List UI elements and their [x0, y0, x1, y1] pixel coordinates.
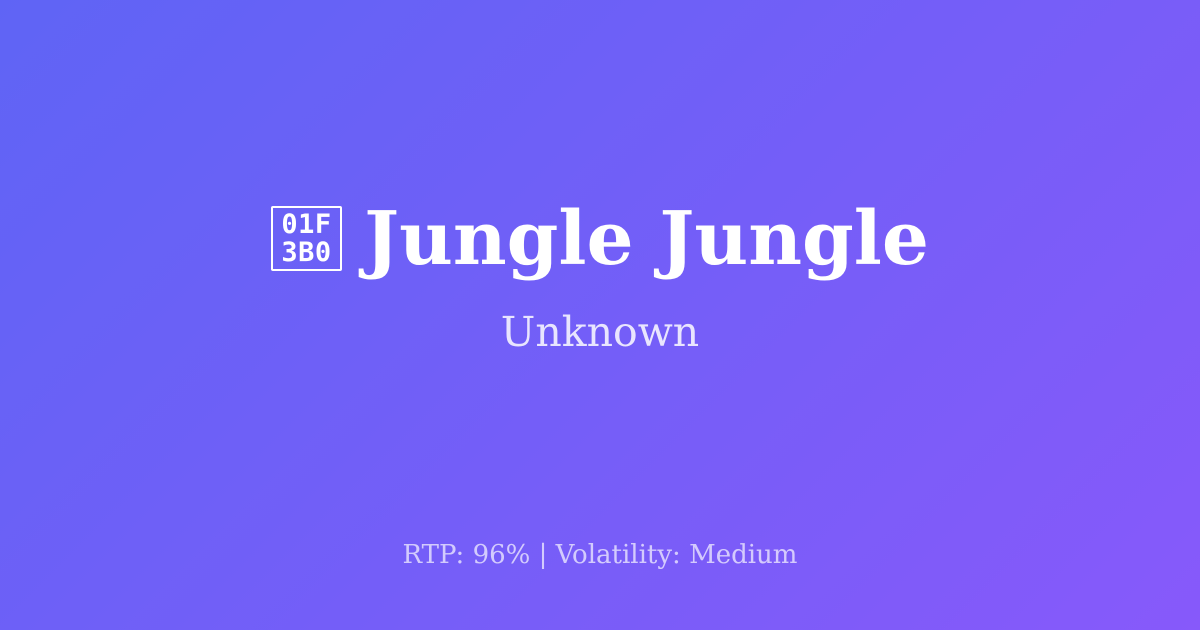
- hero-block: 01F 3B0 Jungle Jungle Unknown: [0, 0, 1200, 592]
- page-title: Jungle Jungle: [364, 202, 929, 276]
- provider-subtitle: Unknown: [501, 312, 699, 353]
- title-row: 01F 3B0 Jungle Jungle: [271, 202, 929, 276]
- slot-machine-icon-codepoint-bottom: 3B0: [281, 239, 331, 267]
- slot-machine-icon: 01F 3B0: [271, 206, 342, 271]
- game-info-card: 01F 3B0 Jungle Jungle Unknown RTP: 96% |…: [0, 0, 1200, 630]
- slot-machine-icon-codepoint-top: 01F: [281, 211, 331, 239]
- game-stats-line: RTP: 96% | Volatility: Medium: [0, 542, 1200, 568]
